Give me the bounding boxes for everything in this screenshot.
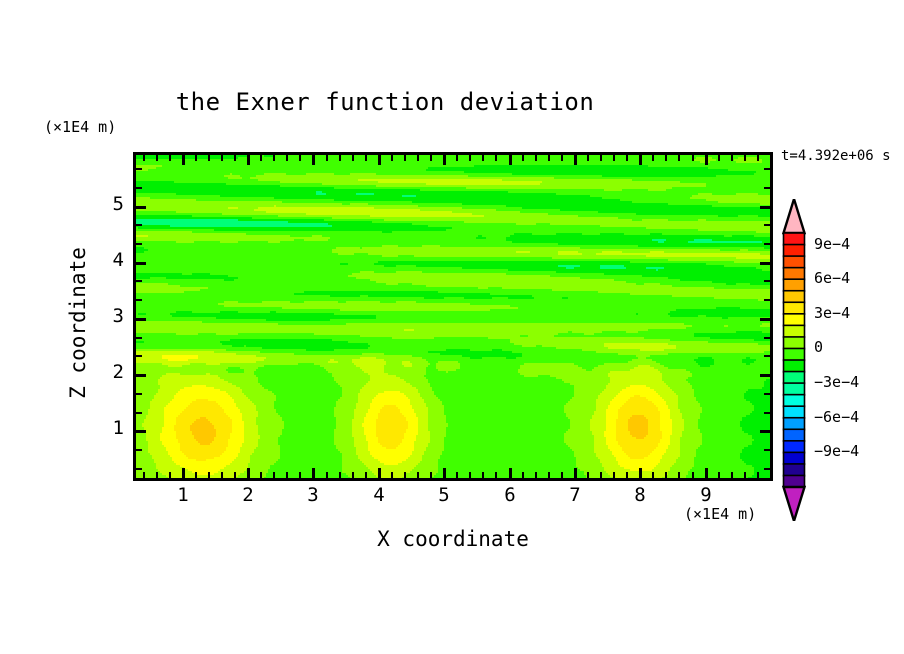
y-tick-label: 2	[96, 361, 124, 383]
contour-band-cell	[372, 399, 410, 401]
contour-band-cell	[698, 315, 706, 317]
contour-band-cell	[418, 429, 428, 431]
contour-band-cell	[684, 429, 700, 431]
x-minor-tick	[286, 472, 288, 478]
contour-band-cell	[684, 419, 698, 421]
x-major-tick	[509, 468, 512, 478]
contour-band-cell	[432, 387, 574, 389]
contour-band-cell	[616, 419, 628, 421]
contour-band-cell	[356, 403, 370, 405]
contour-band-cell	[670, 443, 680, 445]
contour-band-cell	[258, 443, 278, 445]
contour-band-cell	[148, 445, 164, 447]
contour-band-cell	[444, 439, 564, 441]
contour-band-cell	[162, 363, 190, 365]
contour-band-cell	[632, 435, 646, 437]
contour-band-cell	[388, 373, 426, 375]
contour-band-cell	[274, 407, 334, 409]
contour-band-cell	[342, 455, 358, 457]
contour-band-cell	[176, 393, 228, 395]
contour-band-cell	[646, 397, 662, 399]
contour-band-cell	[384, 369, 426, 371]
contour-band-cell	[424, 451, 442, 453]
x-minor-tick-top	[143, 155, 145, 161]
contour-band-cell	[150, 197, 274, 199]
contour-band-cell	[212, 423, 232, 425]
contour-band-cell	[356, 365, 384, 367]
contour-band-cell	[264, 387, 342, 389]
contour-band-cell	[486, 237, 506, 239]
contour-band-cell	[620, 391, 656, 393]
contour-band-cell	[232, 173, 264, 175]
contour-band-cell	[368, 467, 414, 469]
x-minor-tick-top	[326, 155, 328, 161]
contour-band-cell	[694, 459, 742, 461]
x-minor-tick	[561, 472, 563, 478]
contour-band-cell	[342, 471, 372, 473]
contour-band-cell	[430, 383, 570, 385]
contour-band-cell	[650, 453, 664, 455]
contour-band-cell	[426, 369, 438, 371]
x-minor-tick	[404, 472, 406, 478]
contour-band-cell	[468, 175, 602, 177]
contour-band-cell	[136, 343, 222, 345]
contour-band-cell	[670, 441, 680, 443]
contour-band-cell	[258, 415, 280, 417]
contour-band-cell	[136, 323, 278, 325]
contour-band-cell	[222, 453, 238, 455]
contour-band-cell	[630, 293, 770, 295]
contour-band-cell	[328, 223, 412, 225]
contour-band-cell	[428, 427, 446, 429]
contour-band-cell	[208, 419, 232, 421]
contour-band-cell	[162, 473, 196, 475]
contour-band-cell	[400, 377, 426, 379]
contour-band-cell	[136, 443, 148, 445]
contour-band-cell	[660, 395, 678, 397]
contour-band-cell	[756, 231, 770, 233]
contour-band-cell	[196, 199, 334, 201]
contour-band-cell	[558, 253, 582, 255]
contour-band-cell	[172, 399, 196, 401]
contour-band-cell	[638, 357, 646, 359]
contour-band-cell	[742, 361, 754, 363]
contour-band-cell	[136, 419, 144, 421]
contour-band-cell	[136, 277, 150, 279]
contour-band-cell	[352, 433, 364, 435]
contour-band-cell	[398, 407, 412, 409]
contour-band-cell	[440, 353, 522, 355]
contour-band-cell	[568, 401, 596, 403]
contour-band-cell	[698, 421, 740, 423]
contour-band-cell	[628, 429, 648, 431]
y-minor-tick	[136, 280, 142, 282]
contour-band-cell	[338, 383, 366, 385]
contour-band-cell	[662, 373, 692, 375]
contour-band-cell	[606, 443, 618, 445]
contour-band-cell	[482, 235, 510, 237]
contour-band-cell	[180, 373, 206, 375]
contour-band-cell	[238, 453, 252, 455]
contour-band-cell	[380, 409, 400, 411]
contour-band-cell	[618, 409, 658, 411]
contour-band-cell	[632, 201, 718, 203]
contour-band-cell	[364, 419, 376, 421]
contour-band-cell	[662, 455, 680, 457]
contour-band-cell	[616, 429, 628, 431]
contour-band-cell	[338, 399, 358, 401]
contour-band-cell	[368, 445, 382, 447]
contour-band-cell	[398, 445, 414, 447]
contour-band-cell	[238, 407, 256, 409]
x-major-tick-top	[509, 155, 512, 165]
contour-band-cell	[190, 403, 218, 405]
contour-band-cell	[596, 351, 764, 353]
contour-band-cell	[384, 367, 426, 369]
contour-band-cell	[622, 189, 648, 191]
contour-band-cell	[430, 433, 446, 435]
contour-band-cell	[440, 455, 574, 457]
contour-band-cell	[680, 445, 700, 447]
contour-band-cell	[748, 433, 770, 435]
contour-band-cell	[238, 455, 250, 457]
contour-band-cell	[736, 283, 750, 285]
contour-band-cell	[354, 415, 366, 417]
contour-band-cell	[574, 455, 596, 457]
contour-band-cell	[378, 437, 404, 439]
contour-band-cell	[384, 353, 440, 355]
contour-band-cell	[184, 453, 222, 455]
y-major-tick	[136, 262, 146, 265]
x-tick-label: 2	[218, 484, 278, 506]
contour-band-cell	[370, 379, 404, 381]
contour-band-cell	[606, 409, 618, 411]
contour-band-cell	[574, 395, 598, 397]
y-major-tick-right	[760, 206, 770, 209]
contour-band-cell	[670, 413, 682, 415]
contour-band-cell	[136, 301, 224, 303]
y-minor-tick-right	[764, 468, 770, 470]
contour-band-cell	[678, 403, 700, 405]
contour-band-cell	[154, 459, 172, 461]
contour-band-cell	[606, 413, 618, 415]
contour-band-cell	[444, 443, 566, 445]
contour-band-cell	[506, 357, 516, 359]
contour-band-cell	[748, 389, 770, 391]
x-major-tick-top	[247, 155, 250, 165]
contour-band-cell	[628, 399, 648, 401]
contour-band-cell	[150, 403, 168, 405]
contour-band-cell	[230, 433, 244, 435]
contour-band-cell	[192, 231, 382, 233]
contour-band-cell	[606, 441, 618, 443]
contour-band-cell	[424, 297, 444, 299]
contour-band-cell	[244, 371, 254, 373]
contour-band-cell	[384, 405, 396, 407]
y-minor-tick	[136, 468, 142, 470]
contour-band-cell	[614, 397, 630, 399]
contour-band-cell	[146, 417, 164, 419]
contour-band-cell	[136, 209, 254, 211]
contour-band-cell	[258, 207, 374, 209]
contour-band-cell	[146, 439, 160, 441]
contour-band-cell	[358, 179, 502, 181]
contour-band-cell	[460, 367, 520, 369]
contour-band-cell	[428, 415, 446, 417]
contour-band-cell	[184, 467, 224, 469]
contour-band-cell	[416, 465, 438, 467]
contour-band-cell	[240, 473, 266, 475]
contour-band-cell	[336, 403, 356, 405]
contour-band-cell	[680, 451, 696, 453]
contour-band-cell	[428, 225, 600, 227]
contour-band-cell	[220, 363, 298, 365]
contour-band-cell	[434, 391, 574, 393]
contour-band-cell	[304, 239, 328, 241]
contour-band-cell	[230, 437, 244, 439]
contour-band-cell	[334, 379, 370, 381]
y-major-tick-right	[760, 318, 770, 321]
contour-band-cell	[692, 387, 762, 389]
contour-band-cell	[402, 195, 416, 197]
contour-band-cell	[136, 185, 280, 187]
contour-band-cell	[232, 421, 244, 423]
contour-band-cell	[650, 355, 770, 357]
contour-band-cell	[680, 409, 702, 411]
contour-band-cell	[136, 265, 384, 267]
contour-band-cell	[416, 265, 558, 267]
contour-band-cell	[196, 473, 214, 475]
contour-band-cell	[364, 421, 376, 423]
contour-band-cell	[416, 435, 430, 437]
contour-band-cell	[414, 329, 648, 331]
contour-band-cell	[670, 411, 680, 413]
contour-band-cell	[444, 449, 572, 451]
x-tick-label: 7	[545, 484, 605, 506]
contour-band-cell	[668, 385, 692, 387]
contour-band-cell	[506, 205, 712, 207]
contour-band-cell	[356, 451, 370, 453]
contour-band-cell	[188, 457, 214, 459]
contour-band-cell	[256, 405, 274, 407]
contour-band-cell	[564, 405, 596, 407]
contour-band-cell	[746, 363, 750, 365]
contour-band-cell	[368, 411, 380, 413]
contour-band-cell	[664, 399, 678, 401]
contour-band-cell	[596, 253, 760, 255]
contour-band-cell	[166, 447, 180, 449]
x-minor-tick-top	[495, 155, 497, 161]
contour-band-cell	[514, 343, 604, 345]
contour-band-cell	[136, 463, 156, 465]
contour-band-cell	[208, 287, 478, 289]
contour-band-cell	[228, 415, 242, 417]
contour-band-cell	[682, 435, 702, 437]
contour-band-cell	[442, 403, 566, 405]
contour-band-cell	[590, 195, 692, 197]
contour-band-cell	[418, 425, 428, 427]
contour-band-cell	[192, 311, 220, 313]
x-minor-tick	[417, 472, 419, 478]
contour-band-cell	[660, 419, 672, 421]
contour-band-cell	[332, 251, 516, 253]
y-tick-label: 4	[96, 249, 124, 271]
contour-band-cell	[136, 177, 228, 179]
x-minor-tick	[221, 472, 223, 478]
contour-band-cell	[258, 427, 284, 429]
contour-band-cell	[668, 277, 770, 279]
contour-band-cell	[610, 403, 624, 405]
contour-band-cell	[384, 391, 400, 393]
contour-band-cell	[194, 435, 216, 437]
contour-band-cell	[180, 443, 200, 445]
contour-band-cell	[636, 313, 638, 315]
contour-band-cell	[360, 335, 520, 337]
contour-band-cell	[144, 421, 164, 423]
contour-band-cell	[694, 359, 714, 361]
contour-band-cell	[502, 179, 632, 181]
contour-band-cell	[158, 381, 228, 383]
contour-band-cell	[606, 411, 618, 413]
contour-band-cell	[336, 425, 352, 427]
contour-band-cell	[414, 411, 428, 413]
contour-band-cell	[740, 307, 770, 309]
contour-band-cell	[608, 347, 676, 349]
contour-band-cell	[336, 423, 352, 425]
contour-band-cell	[286, 173, 306, 175]
contour-band-cell	[698, 425, 740, 427]
contour-band-cell	[136, 371, 228, 373]
contour-band-cell	[438, 291, 598, 293]
contour-band-cell	[244, 437, 260, 439]
contour-band-cell	[368, 381, 406, 383]
contour-band-cell	[540, 183, 706, 185]
contour-band-cell	[460, 363, 524, 365]
contour-band-cell	[378, 441, 402, 443]
contour-band-cell	[176, 241, 194, 243]
contour-band-cell	[652, 469, 670, 471]
contour-band-cell	[274, 197, 602, 199]
contour-band-cell	[136, 193, 176, 195]
contour-band-cell	[596, 455, 614, 457]
contour-band-cell	[136, 417, 146, 419]
contour-band-cell	[572, 331, 602, 333]
contour-band-cell	[186, 455, 220, 457]
contour-band-cell	[160, 377, 220, 379]
contour-band-cell	[666, 451, 680, 453]
contour-band-cell	[462, 355, 522, 357]
contour-band-cell	[604, 435, 616, 437]
x-minor-tick-top	[469, 155, 471, 161]
contour-band-cell	[334, 199, 620, 201]
contour-band-cell	[714, 359, 742, 361]
contour-band-cell	[334, 413, 354, 415]
colorbar-band	[784, 337, 805, 349]
contour-band-cell	[680, 447, 698, 449]
contour-band-cell	[148, 169, 426, 171]
contour-band-cell	[214, 437, 230, 439]
y-major-tick	[136, 318, 146, 321]
contour-band-cell	[280, 181, 378, 183]
contour-band-cell	[160, 387, 184, 389]
contour-band-cell	[312, 235, 322, 237]
contour-band-cell	[466, 187, 672, 189]
contour-band-cell	[444, 447, 570, 449]
contour-band-cell	[174, 425, 190, 427]
contour-band-cell	[658, 269, 762, 271]
contour-band-cell	[658, 445, 668, 447]
contour-band-cell	[648, 189, 666, 191]
contour-band-cell	[596, 409, 606, 411]
contour-band-cell	[200, 289, 552, 291]
contour-band-cell	[632, 415, 644, 417]
x-minor-tick	[260, 472, 262, 478]
contour-band-cell	[610, 449, 622, 451]
x-major-tick	[182, 468, 185, 478]
contour-band-cell	[698, 401, 750, 403]
contour-band-cell	[470, 349, 492, 351]
contour-band-cell	[598, 291, 770, 293]
contour-band-cell	[240, 409, 256, 411]
contour-band-cell	[164, 421, 176, 423]
contour-band-cell	[156, 467, 184, 469]
contour-band-cell	[162, 431, 176, 433]
contour-band-cell	[696, 449, 742, 451]
contour-band-cell	[574, 391, 602, 393]
contour-band-cell	[426, 367, 436, 369]
colorbar-band	[784, 302, 805, 314]
contour-band-cell	[164, 407, 186, 409]
contour-band-cell	[254, 451, 280, 453]
contour-band-cell	[136, 205, 274, 207]
contour-band-cell	[610, 381, 664, 383]
contour-band-cell	[650, 233, 662, 235]
contour-band-cell	[232, 397, 248, 399]
contour-band-cell	[668, 405, 678, 407]
contour-band-cell	[332, 225, 428, 227]
contour-band-cell	[290, 301, 304, 303]
contour-band-cell	[616, 423, 628, 425]
contour-band-cell	[214, 351, 260, 353]
contour-band-cell	[160, 439, 178, 441]
contour-band-cell	[244, 421, 256, 423]
contour-band-cell	[220, 377, 258, 379]
x-minor-tick	[678, 472, 680, 478]
y-minor-tick-right	[764, 299, 770, 301]
contour-band-cell	[624, 233, 650, 235]
contour-band-cell	[620, 199, 706, 201]
contour-band-cell	[148, 451, 168, 453]
contour-band-cell	[386, 361, 402, 363]
contour-band-cell	[424, 375, 524, 377]
contour-band-cell	[420, 393, 434, 395]
contour-band-cell	[658, 409, 670, 411]
contour-band-cell	[572, 449, 594, 451]
contour-band-cell	[736, 331, 762, 333]
contour-band-cell	[658, 407, 668, 409]
contour-band-cell	[136, 339, 230, 341]
contour-band-cell	[376, 173, 512, 175]
contour-band-cell	[184, 291, 304, 293]
contour-band-cell	[618, 441, 660, 443]
contour-band-cell	[680, 439, 702, 441]
contour-band-cell	[334, 435, 352, 437]
x-minor-tick	[600, 472, 602, 478]
contour-band-cell	[364, 371, 384, 373]
contour-band-cell	[658, 393, 676, 395]
contour-band-cell	[190, 363, 206, 365]
contour-band-cell	[148, 411, 164, 413]
